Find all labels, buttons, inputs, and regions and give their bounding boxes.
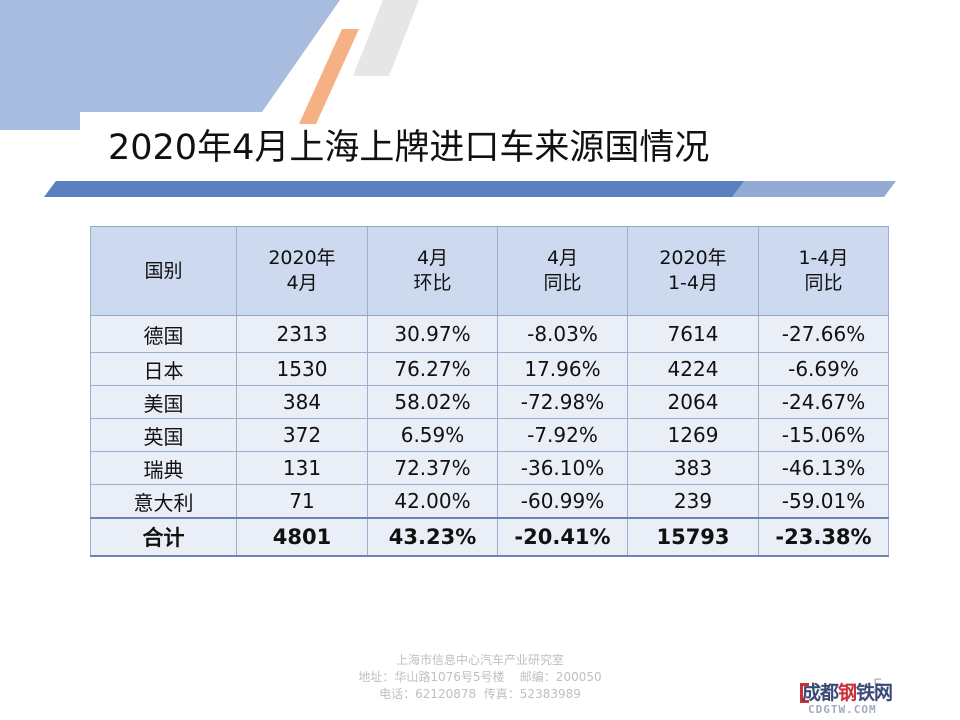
decor-blue-block bbox=[0, 0, 340, 112]
table-header-row: 国别 2020年 4月 4月 环比 4月 同比 2020 bbox=[91, 227, 889, 316]
cell-apr: 372 bbox=[237, 419, 368, 452]
column-header-country: 国别 bbox=[91, 227, 237, 316]
decor-blue-foot bbox=[0, 112, 80, 130]
column-header-ytd-yoy: 1-4月 同比 bbox=[759, 227, 889, 316]
table-row: 瑞典 131 72.37% -36.10% 383 -46.13% bbox=[91, 452, 889, 485]
cell-country: 美国 bbox=[91, 386, 237, 419]
cell-mom: 58.02% bbox=[368, 386, 498, 419]
cell-ytd-yoy: -6.69% bbox=[759, 353, 889, 386]
cell-ytd-yoy: -23.38% bbox=[759, 518, 889, 556]
cell-country: 日本 bbox=[91, 353, 237, 386]
column-header-apr-2020: 2020年 4月 bbox=[237, 227, 368, 316]
cell-apr: 2313 bbox=[237, 316, 368, 353]
cell-ytd-yoy: -46.13% bbox=[759, 452, 889, 485]
cell-apr: 384 bbox=[237, 386, 368, 419]
watermark-logo: 成都钢铁网 CDGTW.COM bbox=[802, 682, 952, 716]
watermark-chinese-text: 成都钢铁网 bbox=[802, 682, 952, 704]
table-row: 日本 1530 76.27% 17.96% 4224 -6.69% bbox=[91, 353, 889, 386]
cell-ytd-yoy: -24.67% bbox=[759, 386, 889, 419]
cell-apr: 131 bbox=[237, 452, 368, 485]
cell-yoy: -72.98% bbox=[498, 386, 628, 419]
cell-ytd: 2064 bbox=[628, 386, 759, 419]
cell-ytd: 4224 bbox=[628, 353, 759, 386]
cell-yoy: -20.41% bbox=[498, 518, 628, 556]
cell-mom: 76.27% bbox=[368, 353, 498, 386]
cell-country: 德国 bbox=[91, 316, 237, 353]
cell-ytd-yoy: -59.01% bbox=[759, 485, 889, 519]
cell-yoy: -8.03% bbox=[498, 316, 628, 353]
cell-ytd: 239 bbox=[628, 485, 759, 519]
cell-ytd-yoy: -15.06% bbox=[759, 419, 889, 452]
cell-country: 英国 bbox=[91, 419, 237, 452]
cell-yoy: -7.92% bbox=[498, 419, 628, 452]
watermark-cn-part2: 钢 bbox=[838, 682, 856, 704]
cell-yoy: -36.10% bbox=[498, 452, 628, 485]
cell-yoy: 17.96% bbox=[498, 353, 628, 386]
decor-gray-stripe bbox=[353, 0, 419, 76]
watermark-english-text: CDGTW.COM bbox=[808, 703, 948, 716]
table-row: 德国 2313 30.97% -8.03% 7614 -27.66% bbox=[91, 316, 889, 353]
column-header-apr-yoy: 4月 同比 bbox=[498, 227, 628, 316]
cell-ytd: 15793 bbox=[628, 518, 759, 556]
cell-ytd: 7614 bbox=[628, 316, 759, 353]
cell-yoy: -60.99% bbox=[498, 485, 628, 519]
cell-apr: 1530 bbox=[237, 353, 368, 386]
watermark-cn-part1: 成都 bbox=[802, 682, 838, 704]
table-total-row: 合计 4801 43.23% -20.41% 15793 -23.38% bbox=[91, 518, 889, 556]
cell-mom: 42.00% bbox=[368, 485, 498, 519]
cell-country: 瑞典 bbox=[91, 452, 237, 485]
import-car-origin-table: 国别 2020年 4月 4月 环比 4月 同比 2020 bbox=[90, 226, 888, 557]
watermark-cn-part3: 铁网 bbox=[856, 682, 892, 704]
table-row: 英国 372 6.59% -7.92% 1269 -15.06% bbox=[91, 419, 889, 452]
cell-mom: 43.23% bbox=[368, 518, 498, 556]
column-header-apr-mom: 4月 环比 bbox=[368, 227, 498, 316]
footer-line-org: 上海市信息中心汽车产业研究室 bbox=[0, 652, 960, 669]
cell-mom: 6.59% bbox=[368, 419, 498, 452]
cell-mom: 72.37% bbox=[368, 452, 498, 485]
cell-ytd-yoy: -27.66% bbox=[759, 316, 889, 353]
cell-ytd: 383 bbox=[628, 452, 759, 485]
cell-country: 合计 bbox=[91, 518, 237, 556]
table-row: 意大利 71 42.00% -60.99% 239 -59.01% bbox=[91, 485, 889, 519]
title-underline-dark bbox=[44, 181, 744, 197]
page-title: 2020年4月上海上牌进口车来源国情况 bbox=[108, 124, 888, 172]
cell-apr: 4801 bbox=[237, 518, 368, 556]
cell-country: 意大利 bbox=[91, 485, 237, 519]
slide-canvas: 2020年4月上海上牌进口车来源国情况 国别 2020年 4月 4月 bbox=[0, 0, 960, 720]
column-header-ytd-2020: 2020年 1-4月 bbox=[628, 227, 759, 316]
table-row: 美国 384 58.02% -72.98% 2064 -24.67% bbox=[91, 386, 889, 419]
cell-mom: 30.97% bbox=[368, 316, 498, 353]
cell-apr: 71 bbox=[237, 485, 368, 519]
cell-ytd: 1269 bbox=[628, 419, 759, 452]
